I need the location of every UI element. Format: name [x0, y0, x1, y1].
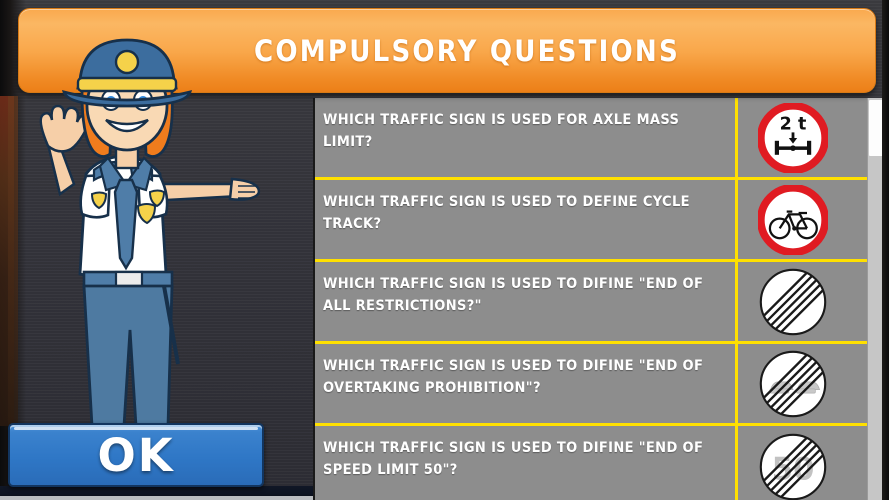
column-divider: [735, 98, 738, 500]
app-root: COMPULSORY QUESTIONS WHICH TRAFFIC SIGN …: [0, 0, 889, 500]
ok-button-highlight: [14, 427, 258, 430]
axle-mass-limit-icon: 2 t: [758, 103, 828, 173]
cap-badge: [116, 51, 138, 73]
question-row[interactable]: WHICH TRAFFIC SIGN IS USED TO DIFINE "EN…: [315, 426, 876, 500]
question-text: WHICH TRAFFIC SIGN IS USED TO DEFINE CYC…: [315, 180, 735, 259]
end-of-speed-limit-icon: 50: [758, 432, 828, 500]
axle-mass-limit-sign[interactable]: 2 t: [735, 98, 876, 177]
officer-left-arm: [41, 106, 88, 194]
ok-button[interactable]: OK: [8, 423, 264, 487]
no-bicycles-sign[interactable]: [735, 180, 876, 259]
bicycle-icon: [758, 185, 828, 255]
end-of-overtaking-icon: [758, 349, 828, 419]
officer-pants: [84, 286, 172, 426]
end-of-all-restrictions-sign[interactable]: [735, 262, 876, 341]
vertical-scrollbar[interactable]: [867, 98, 883, 500]
end-of-speed-limit-sign[interactable]: 50: [735, 426, 876, 500]
question-row[interactable]: WHICH TRAFFIC SIGN IS USED TO DIFINE "EN…: [315, 262, 876, 344]
right-edge-shadow: [882, 0, 889, 500]
question-row[interactable]: WHICH TRAFFIC SIGN IS USED TO DEFINE CYC…: [315, 180, 876, 262]
end-of-all-restrictions-icon: [758, 267, 828, 337]
question-text: WHICH TRAFFIC SIGN IS USED TO DIFINE "EN…: [315, 262, 735, 341]
svg-text:2 t: 2 t: [779, 114, 806, 134]
police-officer-avatar: [2, 34, 270, 434]
scrollbar-thumb[interactable]: [869, 100, 883, 156]
question-list[interactable]: WHICH TRAFFIC SIGN IS USED FOR AXLE MASS…: [313, 98, 876, 500]
ok-button-label: OK: [97, 433, 174, 478]
question-row[interactable]: WHICH TRAFFIC SIGN IS USED FOR AXLE MASS…: [315, 98, 876, 180]
question-row[interactable]: WHICH TRAFFIC SIGN IS USED TO DIFINE "EN…: [315, 344, 876, 426]
end-of-overtaking-prohibition-sign[interactable]: [735, 344, 876, 423]
question-text: WHICH TRAFFIC SIGN IS USED FOR AXLE MASS…: [315, 98, 735, 177]
question-text: WHICH TRAFFIC SIGN IS USED TO DIFINE "EN…: [315, 426, 735, 500]
question-text: WHICH TRAFFIC SIGN IS USED TO DIFINE "EN…: [315, 344, 735, 423]
